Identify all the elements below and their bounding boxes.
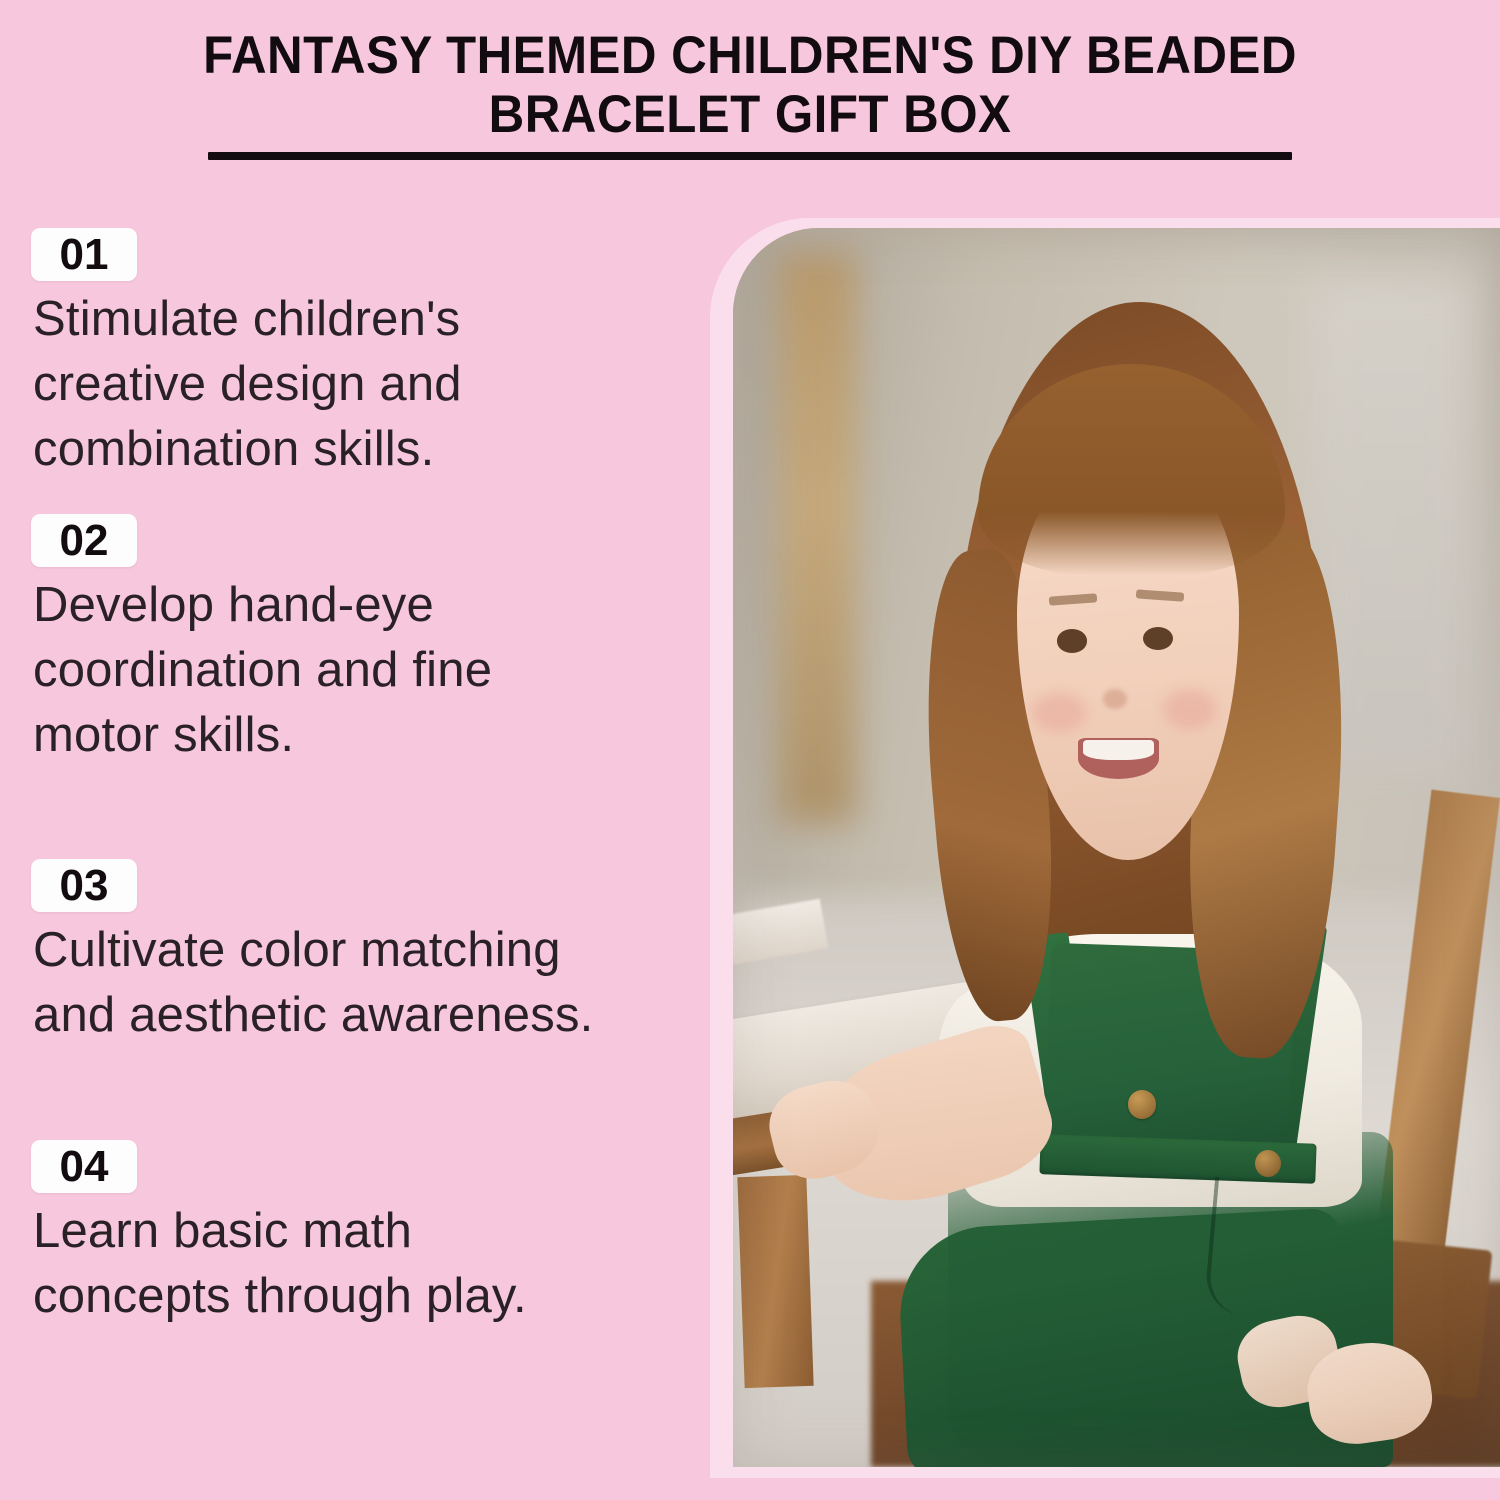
- feature-description: Develop hand-eye coordination and fine m…: [33, 573, 658, 768]
- nose: [1103, 689, 1128, 709]
- feature-number-badge: 01: [31, 228, 137, 281]
- feature-list: 01 Stimulate children's creative design …: [0, 0, 700, 1500]
- photo-frame: [710, 218, 1500, 1478]
- list-item: 04 Learn basic math concepts through pla…: [31, 1140, 681, 1329]
- eye-left: [1057, 629, 1088, 653]
- product-infographic-page: FANTASY THEMED CHILDREN'S DIY BEADED BRA…: [0, 0, 1500, 1500]
- list-item: 02 Develop hand-eye coordination and fin…: [31, 514, 681, 768]
- overalls-button-waist: [1255, 1150, 1281, 1177]
- feature-description: Stimulate children's creative design and…: [33, 287, 658, 482]
- cheek-right: [1163, 689, 1217, 729]
- mouth: [1078, 738, 1159, 779]
- feature-number-badge: 02: [31, 514, 137, 567]
- list-item: 01 Stimulate children's creative design …: [31, 228, 681, 482]
- cheek-left: [1032, 693, 1086, 733]
- feature-number-badge: 03: [31, 859, 137, 912]
- overalls-button-top: [1128, 1090, 1156, 1118]
- child-figure: [733, 228, 1500, 1467]
- photo-scene: [733, 228, 1500, 1467]
- overalls-pocket: [1203, 1177, 1341, 1324]
- product-lifestyle-photo: [733, 228, 1500, 1467]
- feature-description: Cultivate color matching and aesthetic a…: [33, 918, 681, 1048]
- list-item: 03 Cultivate color matching and aestheti…: [31, 859, 681, 1048]
- feature-number-badge: 04: [31, 1140, 137, 1193]
- feature-description: Learn basic math concepts through play.: [33, 1199, 681, 1329]
- teeth: [1083, 740, 1154, 760]
